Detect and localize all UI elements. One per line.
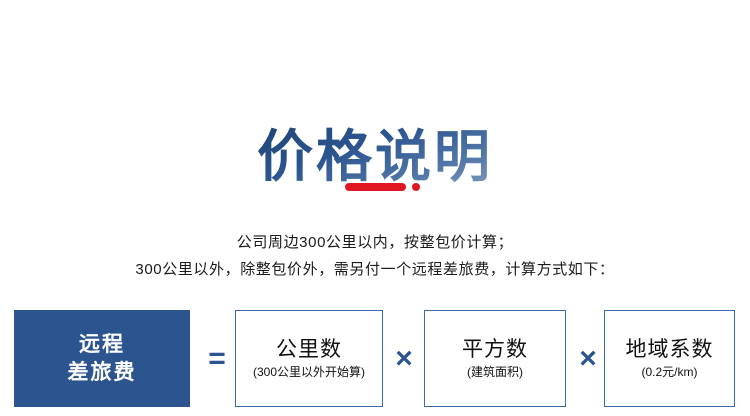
formula-result-line-1: 远程 [79, 331, 125, 359]
page-title: 价格说明 [257, 124, 493, 190]
formula-result-line-2: 差旅费 [68, 359, 137, 387]
formula-term-area-sub: (建筑面积) [467, 365, 523, 379]
description-line-2: 300公里以外，除整包价外，需另付一个远程差旅费，计算方式如下： [0, 256, 750, 283]
formula-term-region-coefficient: 地域系数 (0.2元/km) [604, 310, 735, 407]
price-description-banner: 价格说明 公司周边300公里以内，按整包价计算； 300公里以外，除整包价外，需… [0, 0, 750, 416]
formula-term-region-coefficient-sub: (0.2元/km) [641, 365, 697, 379]
formula-term-kilometers: 公里数 (300公里以外开始算) [235, 310, 383, 407]
formula-term-area: 平方数 (建筑面积) [424, 310, 566, 407]
page-title-container: 价格说明 [0, 86, 750, 227]
formula-term-kilometers-title: 公里数 [276, 338, 342, 362]
red-dot-icon [412, 183, 420, 191]
formula-row: 远程 差旅费 = 公里数 (300公里以外开始算) × 平方数 (建筑面积) ×… [0, 310, 750, 408]
formula-term-kilometers-sub: (300公里以外开始算) [253, 365, 365, 379]
equals-operator-icon: = [196, 310, 238, 407]
description-line-1: 公司周边300公里以内，按整包价计算； [0, 229, 750, 256]
multiply-operator-2-icon: × [570, 310, 606, 407]
formula-term-region-coefficient-title: 地域系数 [626, 338, 714, 362]
red-bar-icon [345, 183, 406, 191]
description-text: 公司周边300公里以内，按整包价计算； 300公里以外，除整包价外，需另付一个远… [0, 229, 750, 283]
formula-result-box: 远程 差旅费 [14, 310, 190, 407]
multiply-operator-1-icon: × [385, 310, 423, 407]
title-ornament [0, 181, 750, 193]
formula-term-area-title: 平方数 [462, 338, 528, 362]
